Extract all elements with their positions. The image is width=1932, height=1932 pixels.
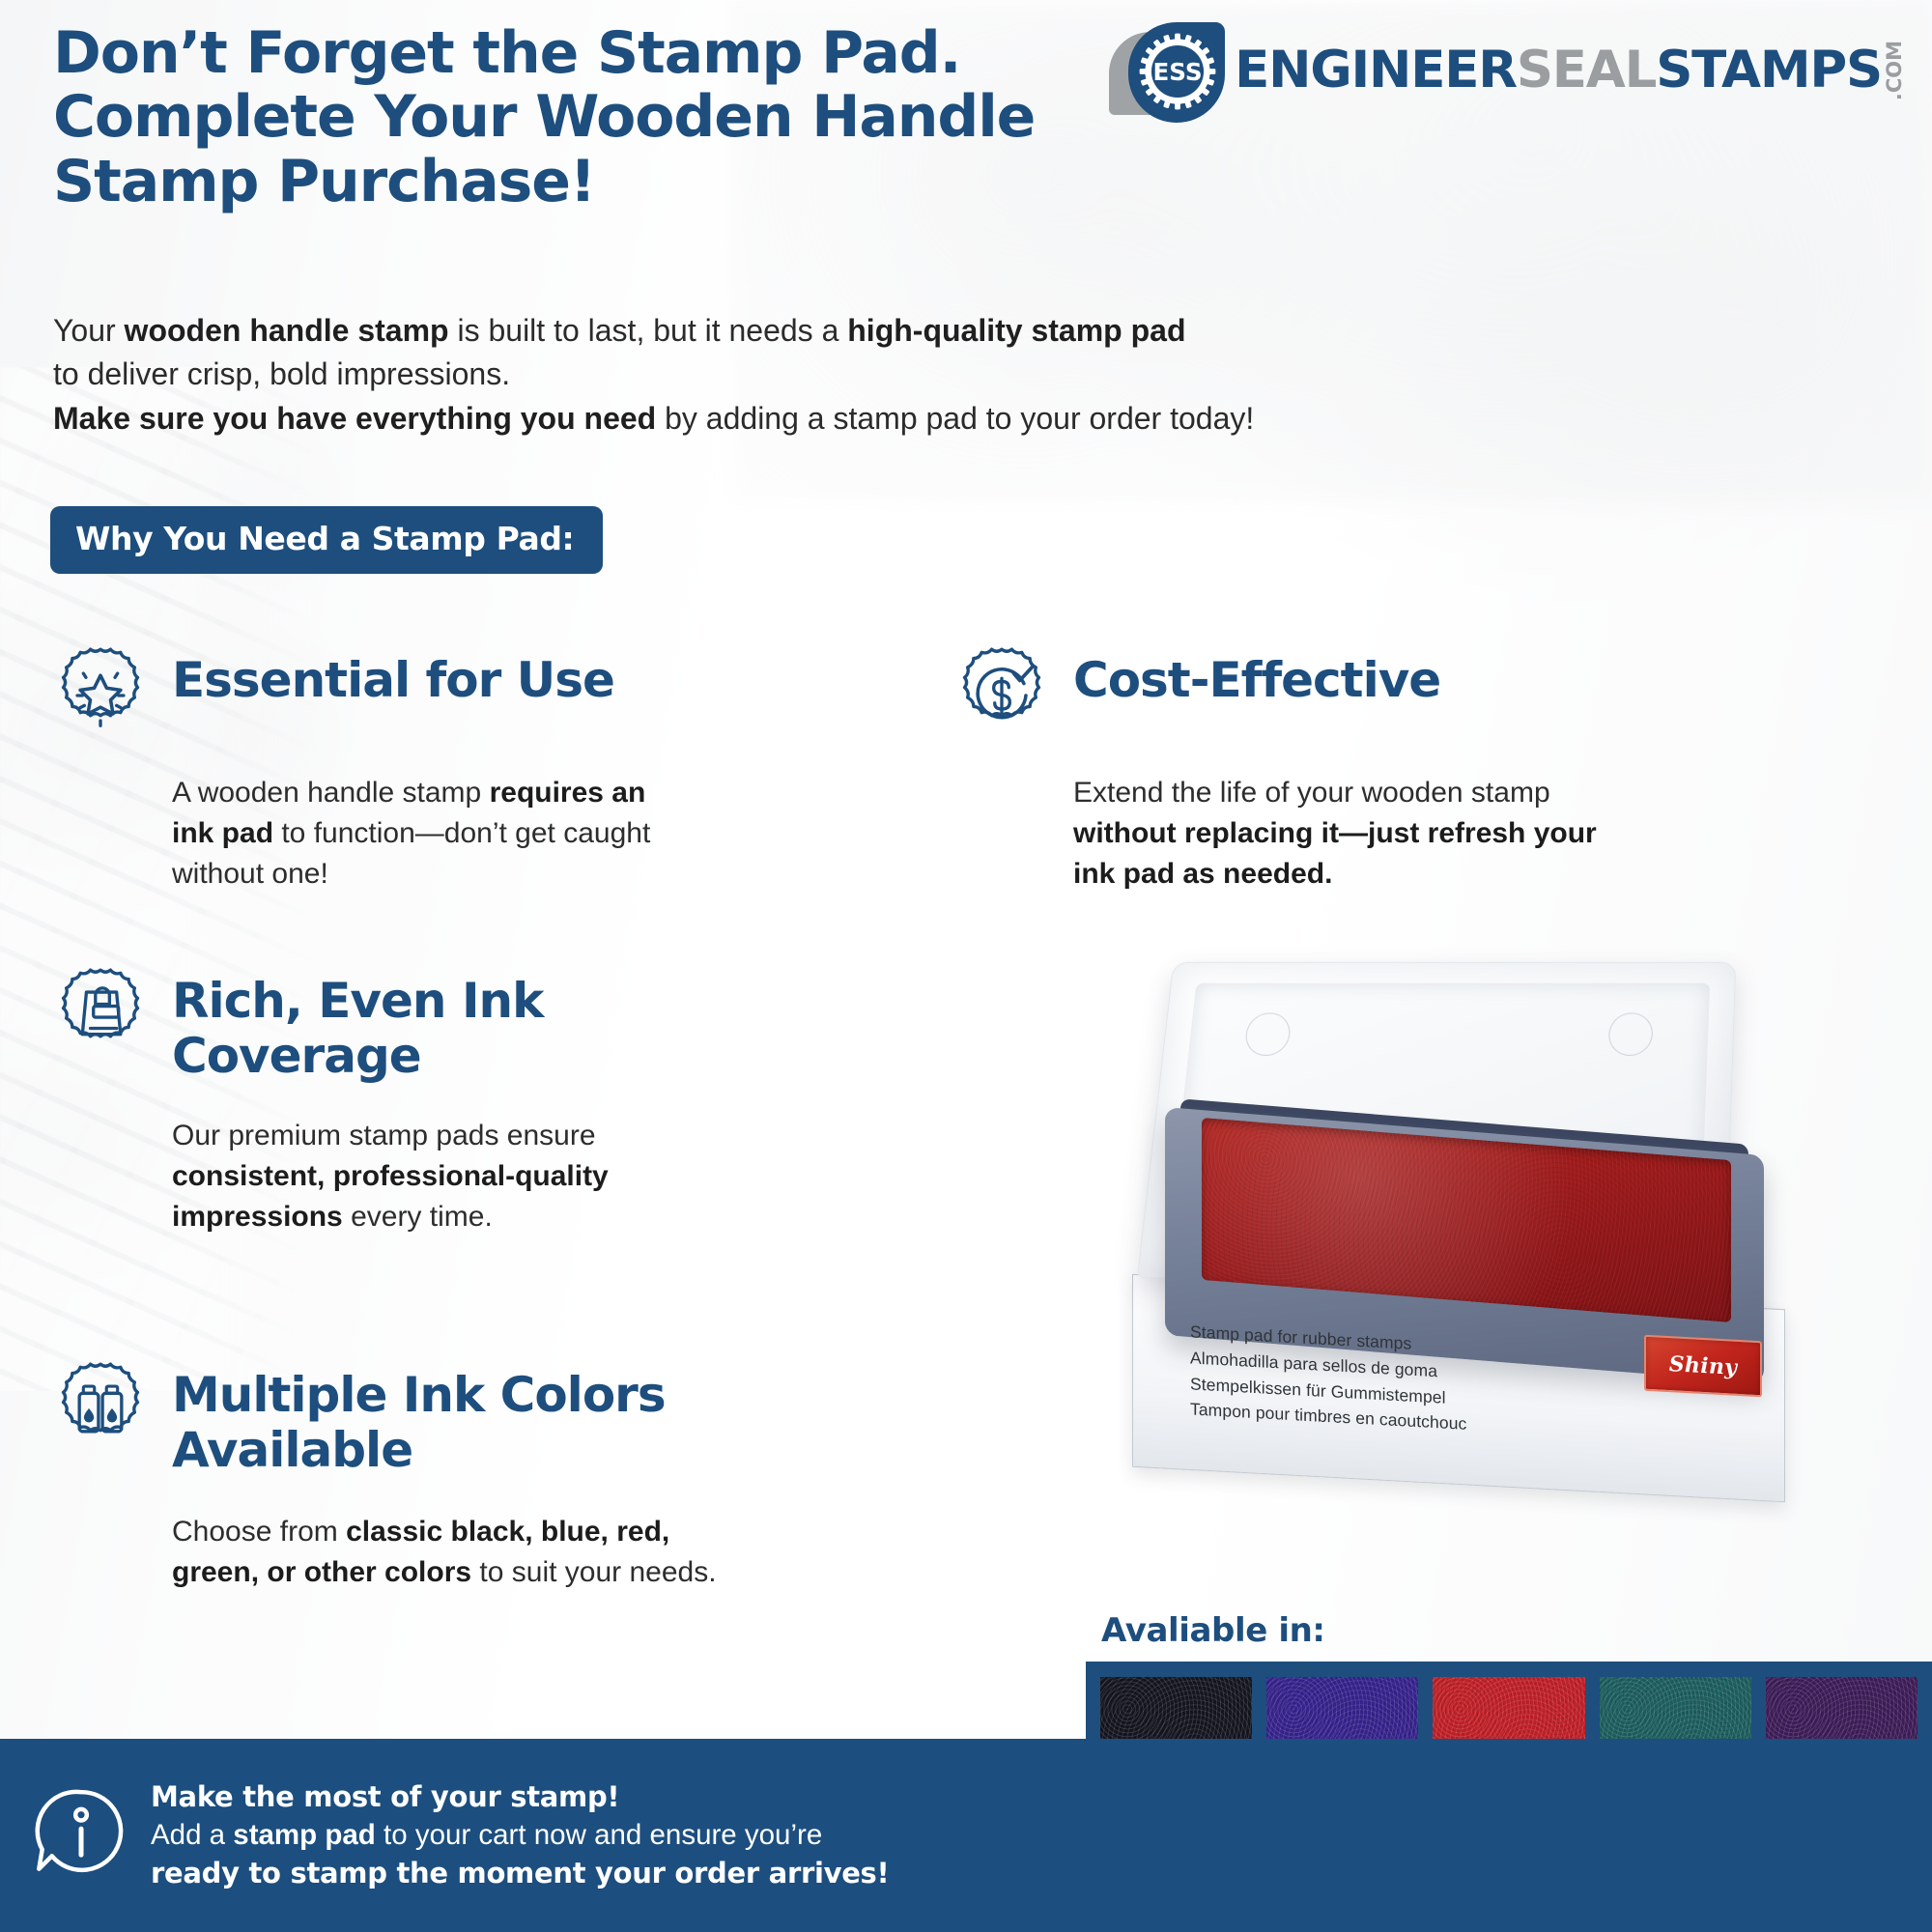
shiny-brand-logo: Shiny <box>1644 1335 1762 1398</box>
footer-band-right <box>1086 1739 1932 1932</box>
info-speech-bubble-icon <box>27 1781 135 1889</box>
emblem-gear-icon: ESS <box>1138 32 1217 111</box>
ess-emblem-icon: ESS <box>1109 18 1225 123</box>
feature-title: Rich, Even Ink Coverage <box>172 966 543 1083</box>
lid-dimple <box>1243 1012 1292 1056</box>
intro-line-1: Your wooden handle stamp is built to las… <box>53 309 1396 353</box>
feature-body: A wooden handle stamp requires an ink pa… <box>172 773 804 895</box>
footer-cta-text: Make the most of your stamp! Add a stamp… <box>151 1778 889 1893</box>
title-line-3: Stamp Purchase! <box>53 150 1241 213</box>
available-in-title: Avaliable in: <box>1101 1611 1325 1650</box>
ink-bottles-badge-icon <box>50 1360 151 1461</box>
product-photo: Stamp pad for rubber stamps Almohadilla … <box>1101 952 1797 1531</box>
page-title: Don’t Forget the Stamp Pad. Complete You… <box>53 21 1241 213</box>
feature-cost-effective: Cost-Effective Extend the life of your w… <box>952 645 1792 895</box>
feature-essential-for-use: Essential for Use A wooden handle stamp … <box>50 645 804 895</box>
feature-header: Cost-Effective <box>952 645 1792 746</box>
feature-header: Rich, Even Ink Coverage <box>50 966 804 1083</box>
feature-title: Cost-Effective <box>1073 645 1440 708</box>
feature-title: Essential for Use <box>172 645 614 708</box>
feature-header: Multiple Ink Colors Available <box>50 1360 900 1477</box>
logo-wordmark: ENGINEER SEAL STAMPS .COM <box>1235 41 1905 100</box>
star-badge-icon <box>50 645 151 746</box>
logo-word-engineer: ENGINEER <box>1235 44 1517 96</box>
title-line-2: Complete Your Wooden Handle <box>53 85 1241 149</box>
dollar-check-badge-icon <box>952 645 1052 746</box>
feature-body: Our premium stamp pads ensure consistent… <box>172 1116 804 1237</box>
logo-word-seal: SEAL <box>1517 44 1656 96</box>
feature-rich-even-ink-coverage: Rich, Even Ink Coverage Our premium stam… <box>50 966 804 1237</box>
feature-header: Essential for Use <box>50 645 804 746</box>
intro-line-2: to deliver crisp, bold impressions. <box>53 353 1396 396</box>
infographic-page: Don’t Forget the Stamp Pad. Complete You… <box>0 0 1932 1932</box>
feature-body: Choose from classic black, blue, red, gr… <box>172 1512 900 1593</box>
feature-body: Extend the life of your wooden stamp wit… <box>1073 773 1792 895</box>
title-line-1: Don’t Forget the Stamp Pad. <box>53 21 1241 85</box>
footer-cta-banner: Make the most of your stamp! Add a stamp… <box>0 1739 1086 1932</box>
brand-logo[interactable]: ESS ENGINEER SEAL STAMPS .COM <box>1109 17 1905 124</box>
shiny-brand-text: Shiny <box>1669 1351 1738 1380</box>
feature-title: Multiple Ink Colors Available <box>172 1360 666 1477</box>
footer-line-2: Add a stamp pad to your cart now and ens… <box>151 1816 889 1855</box>
hero-heading: Don’t Forget the Stamp Pad. Complete You… <box>53 21 1241 213</box>
why-need-banner: Why You Need a Stamp Pad: <box>50 506 603 574</box>
rubber-stamp-badge-icon <box>50 966 151 1066</box>
footer-line-3: ready to stamp the moment your order arr… <box>151 1855 889 1892</box>
intro-paragraph: Your wooden handle stamp is built to las… <box>53 309 1396 440</box>
footer-line-1: Make the most of your stamp! <box>151 1778 889 1816</box>
logo-word-com: .COM <box>1885 41 1905 100</box>
logo-word-stamps: STAMPS <box>1656 44 1882 96</box>
feature-multiple-ink-colors: Multiple Ink Colors Available Choose fro… <box>50 1360 900 1593</box>
intro-line-3: Make sure you have everything you need b… <box>53 397 1396 440</box>
lid-dimple <box>1607 1012 1654 1056</box>
emblem-ess-text: ESS <box>1153 58 1203 86</box>
